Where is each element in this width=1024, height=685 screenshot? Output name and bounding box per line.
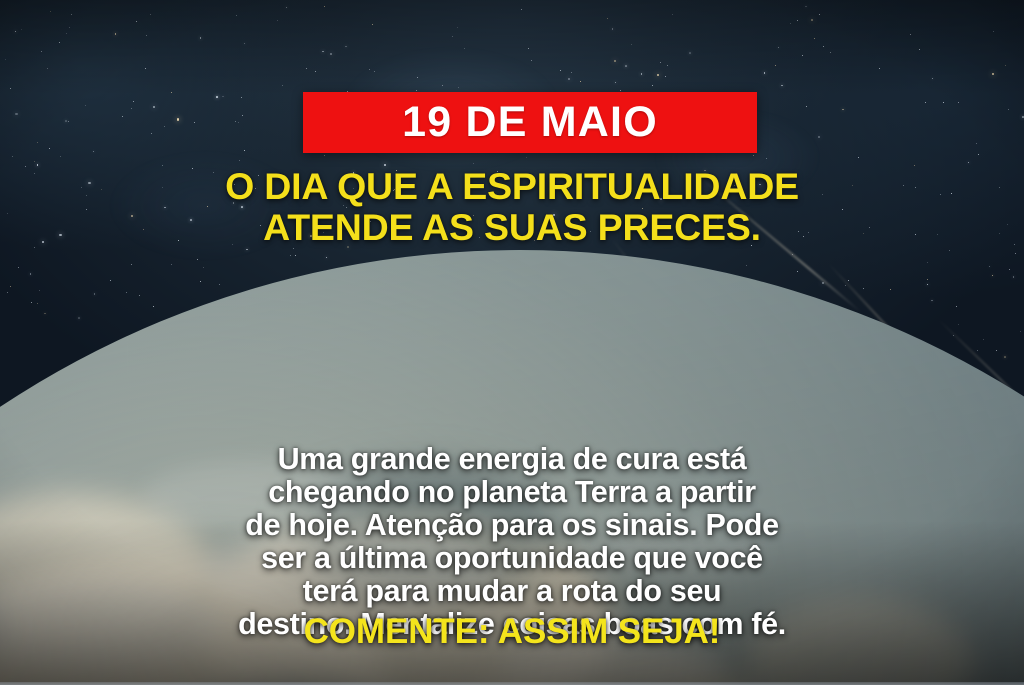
headline-line-1: O DIA QUE A ESPIRITUALIDADE	[225, 165, 799, 207]
body-line-2: chegando no planeta Terra a partir	[26, 476, 998, 509]
body-line-5: terá para mudar a rota do seu	[26, 575, 998, 608]
poster-content: 19 DE MAIO O DIA QUE A ESPIRITUALIDADE A…	[0, 0, 1024, 685]
date-banner: 19 DE MAIO	[303, 92, 757, 153]
call-to-action: COMENTE: ASSIM SEJA!	[0, 614, 1024, 649]
call-to-action-label: COMENTE: ASSIM SEJA!	[304, 612, 721, 651]
poster-canvas: 19 DE MAIO O DIA QUE A ESPIRITUALIDADE A…	[0, 0, 1024, 685]
body-line-3: de hoje. Atenção para os sinais. Pode	[26, 509, 998, 542]
headline: O DIA QUE A ESPIRITUALIDADE ATENDE AS SU…	[0, 166, 1024, 249]
headline-line-2: ATENDE AS SUAS PRECES.	[28, 207, 996, 248]
body-line-1: Uma grande energia de cura está	[26, 443, 998, 476]
body-line-4: ser a última oportunidade que você	[26, 542, 998, 575]
date-banner-label: 19 DE MAIO	[402, 101, 658, 144]
